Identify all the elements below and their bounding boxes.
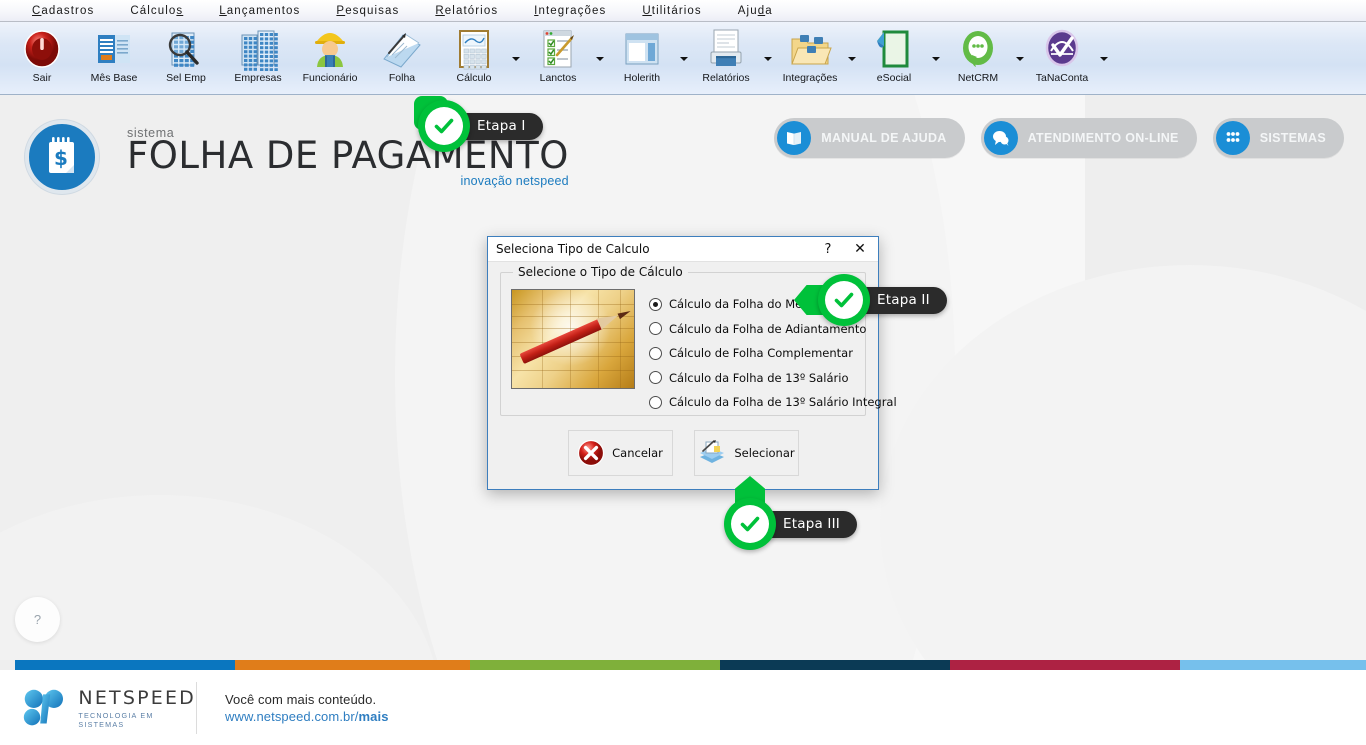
radio-option-2[interactable]: Cálculo de Folha Complementar: [649, 341, 897, 366]
header-button-label: SISTEMAS: [1260, 131, 1326, 145]
toolbar-button-selemp[interactable]: Sel Emp: [150, 22, 222, 92]
chevron-down-icon[interactable]: [510, 22, 522, 92]
check-badge-icon: [1039, 27, 1085, 71]
check-icon: [724, 498, 776, 550]
green-document-icon: [871, 27, 917, 71]
toolbar-group: Lanctos: [522, 22, 606, 92]
dialog-actions: Cancelar Selecionar: [500, 430, 866, 476]
toolbar-button-label: Relatórios: [702, 72, 749, 84]
toolbar-button-netcrm[interactable]: NetCRM: [942, 22, 1014, 92]
radio-indicator[interactable]: [649, 322, 662, 335]
callout-etapa-2: Etapa II: [795, 274, 947, 326]
radio-option-3[interactable]: Cálculo da Folha de 13º Salário: [649, 366, 897, 391]
toolbar-button-label: Sel Emp: [166, 72, 206, 84]
toolbar-group: Holerith: [606, 22, 690, 92]
toolbar-group: Empresas: [222, 22, 294, 92]
radio-indicator[interactable]: [649, 298, 662, 311]
toolbar-button-sair[interactable]: Sair: [6, 22, 78, 92]
toolbar-group: TaNaConta: [1026, 22, 1110, 92]
chevron-down-icon[interactable]: [846, 22, 858, 92]
toolbar-button-label: Holerith: [624, 72, 660, 84]
radio-option-label: Cálculo da Folha de 13º Salário: [669, 371, 849, 385]
group-legend: Selecione o Tipo de Cálculo: [513, 265, 688, 279]
cancel-button[interactable]: Cancelar: [568, 430, 673, 476]
menu-item-clculos[interactable]: Cálculos: [112, 0, 201, 22]
toolbar-group: Integrações: [774, 22, 858, 92]
radio-option-4[interactable]: Cálculo da Folha de 13º Salário Integral: [649, 390, 897, 415]
building-search-icon: [163, 27, 209, 71]
callout-etapa-3: Etapa III: [724, 498, 857, 550]
toolbar-group: Cálculo: [438, 22, 522, 92]
menu-item-integraes[interactable]: Integrações: [516, 0, 624, 22]
help-bubble-button[interactable]: ?: [15, 597, 60, 642]
toolbar-button-lanctos[interactable]: Lanctos: [522, 22, 594, 92]
grid-dots-icon: [1216, 121, 1250, 155]
menu-item-ajuda[interactable]: Ajuda: [720, 0, 791, 22]
dialog-title: Seleciona Tipo de Calculo: [496, 242, 814, 256]
netspeed-logo: NETSPEED TECNOLOGIA EM SISTEMAS: [0, 687, 196, 729]
footer-colorbar: [0, 660, 1366, 670]
menu-item-cadastros[interactable]: Cadastros: [14, 0, 112, 22]
toolbar-button-label: Lanctos: [540, 72, 577, 84]
toolbar-group: NetCRM: [942, 22, 1026, 92]
header-button-manual-de-ajuda[interactable]: MANUAL DE AJUDA: [774, 118, 964, 158]
toolbar-button-label: Mês Base: [91, 72, 138, 84]
toolbar-group: Sel Emp: [150, 22, 222, 92]
toolbar-button-clculo[interactable]: Cálculo: [438, 22, 510, 92]
worker-icon: [307, 27, 353, 71]
blue-books-pen-icon: [697, 439, 727, 467]
dialog-titlebar: Seleciona Tipo de Calculo ? ✕: [488, 237, 878, 262]
chevron-down-icon[interactable]: [1014, 22, 1026, 92]
toolbar-button-relatrios[interactable]: Relatórios: [690, 22, 762, 92]
toolbar-button-label: NetCRM: [958, 72, 998, 84]
colorbar-segment: [950, 660, 1180, 670]
toolbar-group: Folha: [366, 22, 438, 92]
select-button[interactable]: Selecionar: [694, 430, 799, 476]
toolbar-button-msbase[interactable]: Mês Base: [78, 22, 150, 92]
toolbar-group: Sair: [6, 22, 78, 92]
menu-item-lanamentos[interactable]: Lançamentos: [201, 0, 318, 22]
footer: NETSPEED TECNOLOGIA EM SISTEMAS Você com…: [0, 670, 1366, 745]
menu-bar: CadastrosCálculosLançamentosPesquisasRel…: [0, 0, 1366, 22]
payroll-sheet-icon: [379, 27, 425, 71]
toolbar-button-esocial[interactable]: eSocial: [858, 22, 930, 92]
chevron-down-icon[interactable]: [678, 22, 690, 92]
netspeed-mark-icon: [22, 687, 69, 729]
toolbar-button-label: Folha: [389, 72, 415, 84]
check-icon: [418, 100, 470, 152]
close-icon[interactable]: ✕: [842, 237, 878, 261]
cancel-button-label: Cancelar: [612, 446, 663, 460]
chevron-down-icon[interactable]: [594, 22, 606, 92]
toolbar-button-tanaconta[interactable]: TaNaConta: [1026, 22, 1098, 92]
toolbar-button-label: Cálculo: [456, 72, 491, 84]
radio-indicator[interactable]: [649, 396, 662, 409]
colorbar-segment: [15, 660, 235, 670]
toolbar-button-folha[interactable]: Folha: [366, 22, 438, 92]
help-bubble-label: ?: [34, 612, 41, 627]
toolbar-button-label: Sair: [33, 72, 52, 84]
chevron-down-icon[interactable]: [762, 22, 774, 92]
chat-bubble-icon: [955, 27, 1001, 71]
toolbar-group: eSocial: [858, 22, 942, 92]
radio-option-label: Cálculo de Folha Complementar: [669, 346, 853, 360]
radio-indicator[interactable]: [649, 371, 662, 384]
header-button-label: ATENDIMENTO ON-LINE: [1028, 131, 1179, 145]
chevron-down-icon[interactable]: [1098, 22, 1110, 92]
chevron-down-icon[interactable]: [930, 22, 942, 92]
svg-text:$: $: [54, 146, 68, 170]
header-actions: MANUAL DE AJUDAATENDIMENTO ON-LINESISTEM…: [774, 118, 1344, 158]
toolbar: SairMês BaseSel EmpEmpresasFuncionárioFo…: [0, 22, 1366, 95]
netspeed-wordmark: NETSPEED: [78, 687, 196, 709]
colorbar-segment: [470, 660, 720, 670]
printer-report-icon: [703, 27, 749, 71]
red-x-icon: [577, 439, 605, 467]
footer-link-bold: mais: [359, 709, 389, 724]
toolbar-group: Mês Base: [78, 22, 150, 92]
toolbar-button-label: TaNaConta: [1036, 72, 1089, 84]
toolbar-group: Relatórios: [690, 22, 774, 92]
radio-option-label: Cálculo da Folha de 13º Salário Integral: [669, 395, 897, 409]
application-window: CadastrosCálculosLançamentosPesquisasRel…: [0, 0, 1366, 745]
select-button-label: Selecionar: [734, 446, 794, 460]
chat-icon: [984, 121, 1018, 155]
checklist-pencil-icon: [535, 27, 581, 71]
netspeed-subtitle: TECNOLOGIA EM SISTEMAS: [78, 711, 196, 729]
toolbar-button-label: Empresas: [234, 72, 281, 84]
toolbar-button-funcionrio[interactable]: Funcionário: [294, 22, 366, 92]
toolbar-button-holerith[interactable]: Holerith: [606, 22, 678, 92]
callout-etapa-1: Etapa I: [418, 100, 543, 152]
footer-tagline: Você com mais conteúdo.: [225, 692, 389, 707]
folder-network-icon: [787, 27, 833, 71]
header-button-sistemas[interactable]: SISTEMAS: [1213, 118, 1344, 158]
colorbar-segment: [720, 660, 950, 670]
footer-link[interactable]: www.netspeed.com.br/mais: [225, 709, 389, 724]
menu-item-pesquisas[interactable]: Pesquisas: [318, 0, 417, 22]
menu-item-relatrios[interactable]: Relatórios: [417, 0, 516, 22]
pencil-on-ledger-image: [511, 289, 635, 389]
toolbar-button-label: Funcionário: [303, 72, 358, 84]
window-icon: [619, 27, 665, 71]
radio-option-label: Cálculo da Folha do Mês: [669, 297, 808, 311]
check-icon: [818, 274, 870, 326]
help-icon[interactable]: ?: [814, 237, 842, 261]
book-icon: [777, 121, 811, 155]
payroll-badge-icon: $: [25, 120, 99, 194]
colorbar-segment: [1180, 660, 1366, 670]
toolbar-button-empresas[interactable]: Empresas: [222, 22, 294, 92]
toolbar-button-label: Integrações: [783, 72, 838, 84]
buildings-icon: [235, 27, 281, 71]
header-button-atendimento-on-line[interactable]: ATENDIMENTO ON-LINE: [981, 118, 1197, 158]
calculator-icon: [451, 27, 497, 71]
colorbar-segment: [235, 660, 470, 670]
power-icon: [19, 27, 65, 71]
header-button-label: MANUAL DE AJUDA: [821, 131, 946, 145]
footer-link-prefix: www.netspeed.com.br/: [225, 709, 359, 724]
toolbar-button-label: eSocial: [877, 72, 911, 84]
toolbar-group: Funcionário: [294, 22, 366, 92]
colorbar-segment: [0, 660, 15, 670]
calendar-icon: [91, 27, 137, 71]
menu-item-utilitrios[interactable]: Utilitários: [624, 0, 719, 22]
radio-indicator[interactable]: [649, 347, 662, 360]
toolbar-button-integraes[interactable]: Integrações: [774, 22, 846, 92]
